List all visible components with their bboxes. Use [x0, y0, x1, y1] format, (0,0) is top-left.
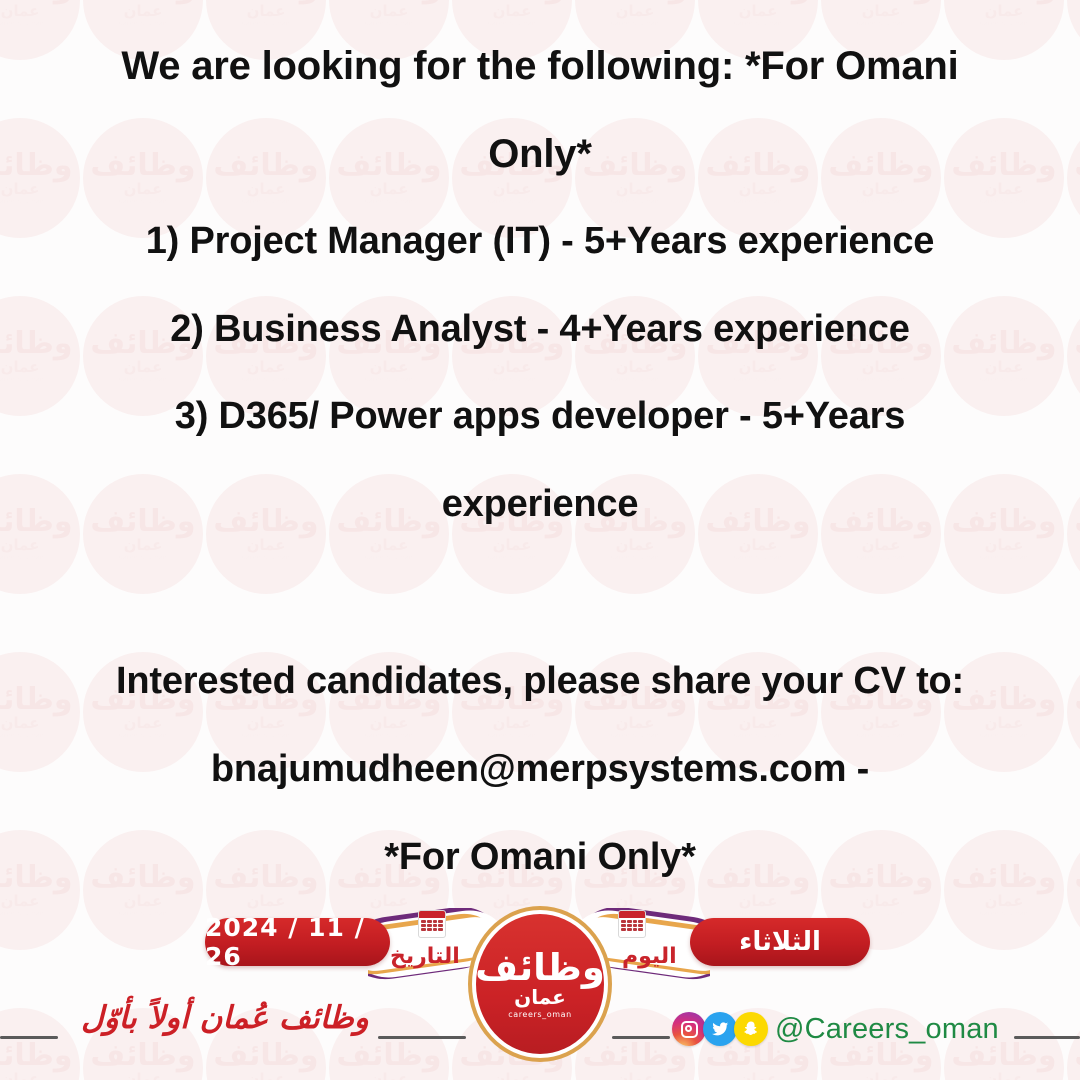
logo-tagline: careers_oman — [508, 1011, 572, 1019]
snapchat-icon[interactable] — [734, 1012, 768, 1046]
instagram-icon[interactable] — [672, 1012, 706, 1046]
contact-note: *For Omani Only* — [0, 836, 1080, 879]
headline-line-1: We are looking for the following: *For O… — [0, 44, 1080, 89]
date-label: التاريخ — [390, 944, 460, 969]
calendar-icon — [618, 910, 646, 938]
job-item-3: 3) D365/ Power apps developer - 5+Years — [0, 395, 1080, 438]
calendar-icon — [418, 910, 446, 938]
headline-line-2: Only* — [0, 132, 1080, 177]
arabic-slogan: وظائف عُمان أولاً بأوّل — [60, 1000, 390, 1036]
footer-band: التاريخ اليوم 2024 / 11 / 26 الثلاثاء وظ… — [0, 900, 1080, 1080]
divider-center-right — [612, 1036, 670, 1039]
divider-right — [1014, 1036, 1080, 1039]
careers-oman-logo: وظائف عمان careers_oman — [468, 906, 612, 1062]
job-item-2: 2) Business Analyst - 4+Years experience — [0, 308, 1080, 351]
logo-sub-text: عمان — [514, 987, 566, 1007]
job-item-3-continued: experience — [0, 483, 1080, 526]
day-ribbon: الثلاثاء — [690, 918, 870, 966]
contact-instruction: Interested candidates, please share your… — [0, 660, 1080, 703]
contact-email[interactable]: bnajumudheen@merpsystems.com - — [0, 748, 1080, 791]
social-handle[interactable]: @Careers_oman — [775, 1013, 999, 1046]
divider-left — [0, 1036, 58, 1039]
logo-main-text: وظائف — [475, 949, 605, 986]
social-handle-row: @Careers_oman — [672, 1012, 999, 1046]
twitter-icon[interactable] — [703, 1012, 737, 1046]
date-ribbon: 2024 / 11 / 26 — [205, 918, 390, 966]
job-item-1: 1) Project Manager (IT) - 5+Years experi… — [0, 220, 1080, 263]
divider-center-left — [378, 1036, 466, 1039]
logo-circle: وظائف عمان careers_oman — [476, 914, 604, 1054]
job-poster: وظائفعمانcareers_omanوظائفعمانcareers_om… — [0, 0, 1080, 1080]
day-label: اليوم — [622, 944, 677, 969]
